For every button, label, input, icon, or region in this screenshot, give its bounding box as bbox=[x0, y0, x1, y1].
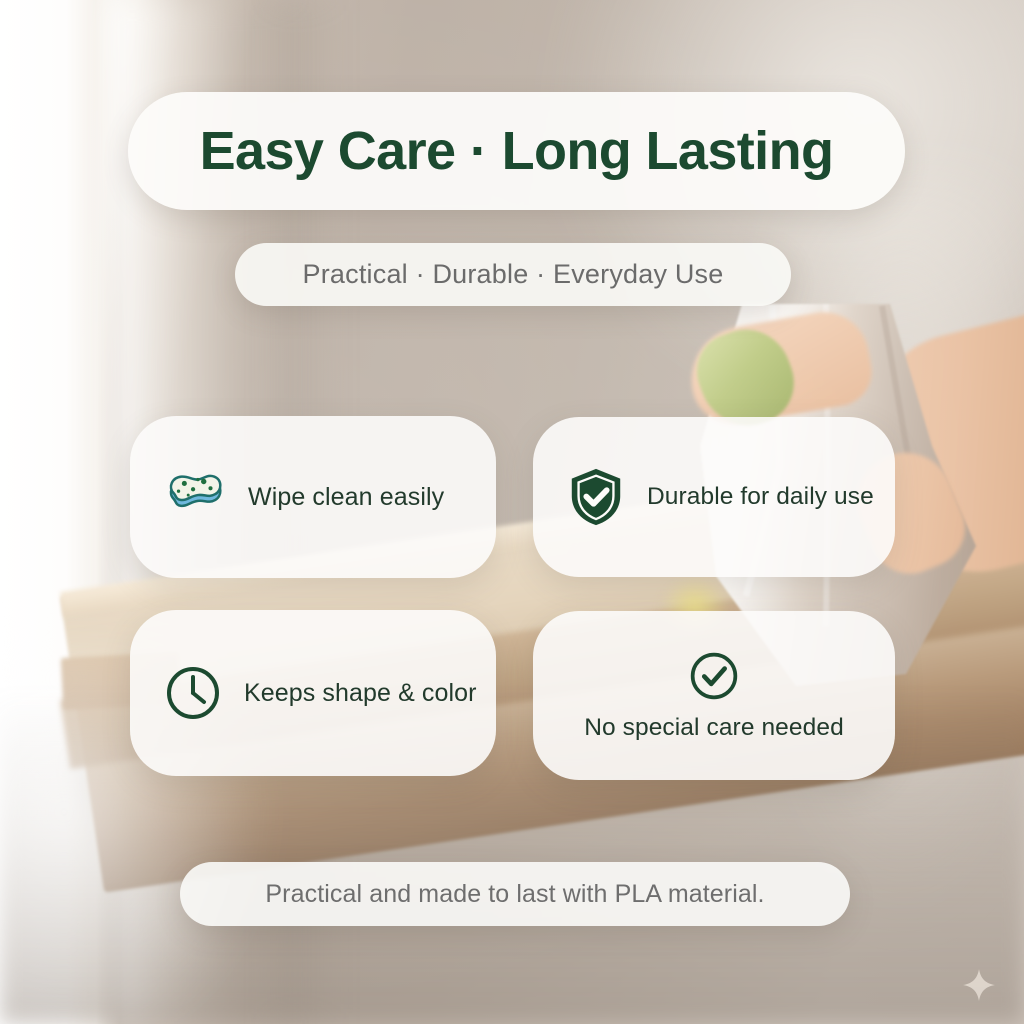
sparkle-icon bbox=[962, 968, 996, 1002]
feature-card-no-special-care[interactable]: No special care needed bbox=[533, 611, 895, 780]
clock-icon bbox=[164, 664, 222, 722]
shield-check-icon bbox=[567, 466, 625, 528]
caption-text: Practical and made to last with PLA mate… bbox=[265, 880, 764, 909]
feature-label: Durable for daily use bbox=[647, 483, 874, 511]
page-title: Easy Care · Long Lasting bbox=[200, 124, 834, 178]
feature-card-wipe-clean[interactable]: Wipe clean easily bbox=[130, 416, 496, 578]
title-pill: Easy Care · Long Lasting bbox=[128, 92, 905, 210]
caption-pill: Practical and made to last with PLA mate… bbox=[180, 862, 850, 926]
feature-label: Keeps shape & color bbox=[244, 679, 477, 708]
check-circle-icon bbox=[688, 650, 740, 702]
page-subtitle: Practical · Durable · Everyday Use bbox=[303, 259, 724, 290]
feature-label: Wipe clean easily bbox=[248, 483, 444, 512]
subtitle-pill: Practical · Durable · Everyday Use bbox=[235, 243, 791, 306]
sponge-icon bbox=[164, 466, 226, 528]
feature-label: No special care needed bbox=[584, 714, 844, 742]
content-overlay: Easy Care · Long Lasting Practical · Dur… bbox=[0, 0, 1024, 1024]
feature-card-durable[interactable]: Durable for daily use bbox=[533, 417, 895, 577]
feature-card-keeps-shape[interactable]: Keeps shape & color bbox=[130, 610, 496, 776]
